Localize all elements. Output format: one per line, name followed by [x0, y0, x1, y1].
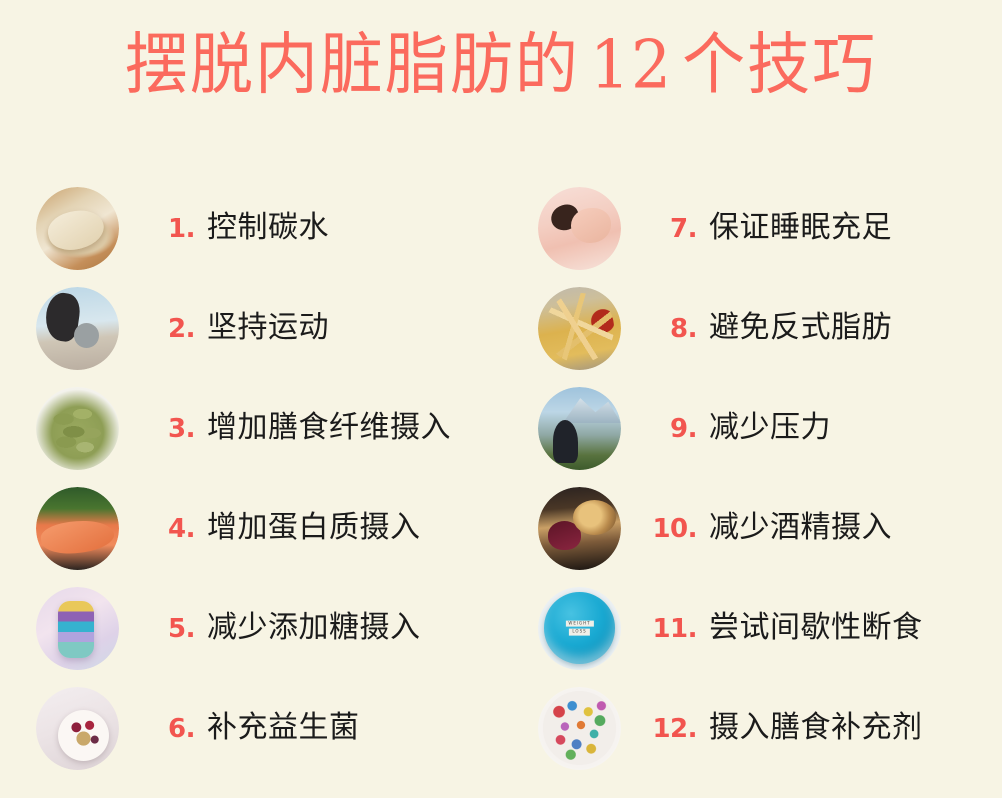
- tip-text: 11. 尝试间歇性断食: [641, 613, 923, 643]
- list-item: WEIGHT LOSS 11. 尝试间歇性断食: [538, 578, 1002, 678]
- title-suffix: 个技巧: [682, 28, 877, 102]
- tips-column-right: 7. 保证睡眠充足 8. 避免反式脂肪 9. 减少压: [501, 178, 1002, 778]
- tip-label: 减少酒精摄入: [709, 513, 892, 543]
- macarons-photo: [36, 587, 119, 670]
- tip-number: 7.: [641, 216, 697, 242]
- tip-number: 1.: [139, 216, 195, 242]
- tip-label: 增加膳食纤维摄入: [207, 413, 451, 443]
- tip-label: 减少压力: [709, 413, 831, 443]
- tip-label: 保证睡眠充足: [709, 213, 892, 243]
- list-item: 2. 坚持运动: [36, 278, 501, 378]
- tip-label: 增加蛋白质摄入: [207, 513, 421, 543]
- supplements-photo: [538, 687, 621, 770]
- tip-text: 5. 减少添加糖摄入: [139, 613, 421, 643]
- salmon-photo: [36, 487, 119, 570]
- tip-text: 7. 保证睡眠充足: [641, 213, 892, 243]
- tip-text: 2. 坚持运动: [139, 313, 329, 343]
- tip-number: 2.: [139, 316, 195, 342]
- list-item: 8. 避免反式脂肪: [538, 278, 1002, 378]
- tip-number: 11.: [641, 616, 697, 642]
- list-item: 4. 增加蛋白质摄入: [36, 478, 501, 578]
- tip-number: 12.: [641, 716, 697, 742]
- poster-header: 摆脱内脏脂肪的12个技巧: [0, 0, 1002, 130]
- tip-label: 控制碳水: [207, 213, 329, 243]
- tip-label: 摄入膳食补充剂: [709, 713, 923, 743]
- page-title: 摆脱内脏脂肪的12个技巧: [125, 31, 877, 99]
- title-prefix: 摆脱内脏脂肪的: [125, 28, 580, 102]
- tip-number: 3.: [139, 416, 195, 442]
- tip-text: 4. 增加蛋白质摄入: [139, 513, 421, 543]
- tip-text: 10. 减少酒精摄入: [641, 513, 892, 543]
- pumpkin-seeds-photo: [36, 387, 119, 470]
- title-number: 12: [580, 26, 682, 103]
- plate-badge-line1: WEIGHT: [565, 621, 593, 627]
- tip-number: 5.: [139, 616, 195, 642]
- tip-number: 8.: [641, 316, 697, 342]
- tips-columns: 1. 控制碳水 2. 坚持运动 3. 增加膳食纤维摄: [0, 178, 1002, 778]
- exercise-photo: [36, 287, 119, 370]
- tip-text: 1. 控制碳水: [139, 213, 329, 243]
- list-item: 3. 增加膳食纤维摄入: [36, 378, 501, 478]
- sleeping-photo: [538, 187, 621, 270]
- tip-text: 8. 避免反式脂肪: [641, 313, 892, 343]
- tip-text: 9. 减少压力: [641, 413, 831, 443]
- list-item: 9. 减少压力: [538, 378, 1002, 478]
- tip-number: 9.: [641, 416, 697, 442]
- meditation-photo: [538, 387, 621, 470]
- tip-text: 12. 摄入膳食补充剂: [641, 713, 923, 743]
- tip-number: 6.: [139, 716, 195, 742]
- tip-label: 尝试间歇性断食: [709, 613, 923, 643]
- plate-badge-line2: LOSS: [569, 629, 589, 635]
- weight-loss-plate-photo: WEIGHT LOSS: [538, 587, 621, 670]
- tip-text: 6. 补充益生菌: [139, 713, 360, 743]
- yogurt-bowl-photo: [36, 687, 119, 770]
- list-item: 1. 控制碳水: [36, 178, 501, 278]
- tip-label: 坚持运动: [207, 313, 329, 343]
- tip-label: 避免反式脂肪: [709, 313, 892, 343]
- tip-text: 3. 增加膳食纤维摄入: [139, 413, 451, 443]
- alcohol-photo: [538, 487, 621, 570]
- tip-number: 4.: [139, 516, 195, 542]
- tip-label: 减少添加糖摄入: [207, 613, 421, 643]
- tip-label: 补充益生菌: [207, 713, 360, 743]
- infographic-poster: 摆脱内脏脂肪的12个技巧 1. 控制碳水 2. 坚持运动: [0, 0, 1002, 798]
- list-item: 6. 补充益生菌: [36, 678, 501, 778]
- list-item: 5. 减少添加糖摄入: [36, 578, 501, 678]
- tip-number: 10.: [641, 516, 697, 542]
- list-item: 10. 减少酒精摄入: [538, 478, 1002, 578]
- french-fries-photo: [538, 287, 621, 370]
- plate-badge: WEIGHT LOSS: [565, 621, 593, 636]
- list-item: 12. 摄入膳食补充剂: [538, 678, 1002, 778]
- tips-column-left: 1. 控制碳水 2. 坚持运动 3. 增加膳食纤维摄: [0, 178, 501, 778]
- bread-photo: [36, 187, 119, 270]
- list-item: 7. 保证睡眠充足: [538, 178, 1002, 278]
